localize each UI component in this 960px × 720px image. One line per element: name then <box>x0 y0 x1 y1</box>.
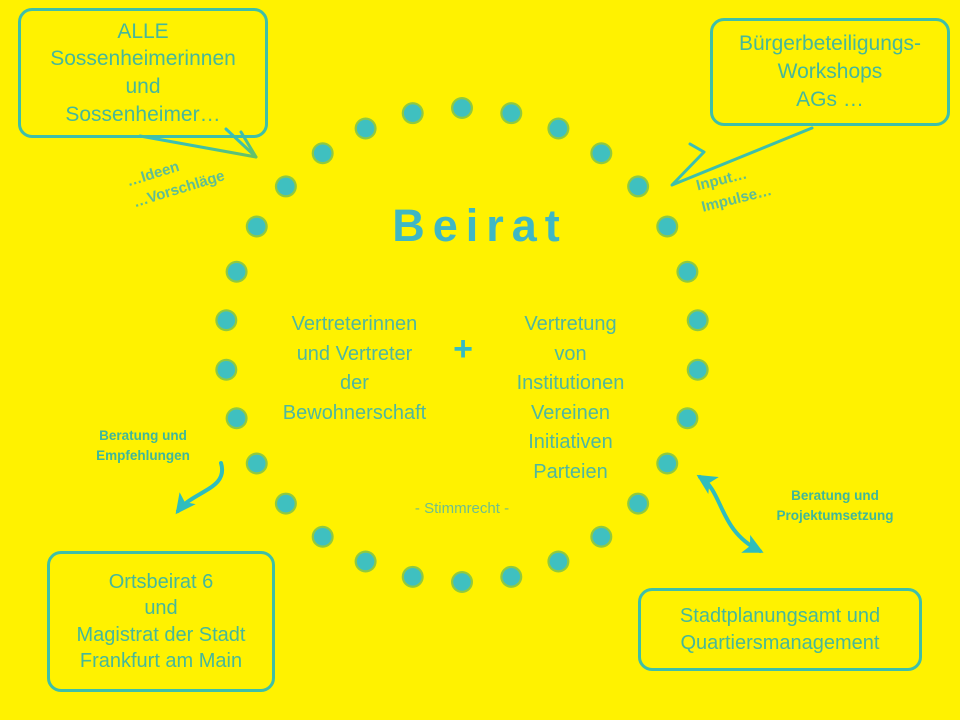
diagram-canvas: ALLE Sossenheimerinnen und Sossenheimer…… <box>0 0 960 720</box>
box-stadtplanungsamt-quartiersmanagement: Stadtplanungsamt und Quartiersmanagement <box>638 588 922 671</box>
bubble-alle-text: ALLE Sossenheimerinnen und Sossenheimer… <box>50 18 236 129</box>
column-vertretung-institutionen: Vertretung von Institutionen Vereinen In… <box>478 310 663 488</box>
box-stadtplanung-text: Stadtplanungsamt und Quartiersmanagement <box>680 603 880 656</box>
box-ortsbeirat-magistrat: Ortsbeirat 6 und Magistrat der Stadt Fra… <box>47 551 275 692</box>
arrow-beratung-empfehlungen <box>178 463 222 511</box>
bubble-buergerbeteiligungs-workshops: Bürgerbeteiligungs- Workshops AGs … <box>710 18 950 126</box>
box-ortsbeirat-text: Ortsbeirat 6 und Magistrat der Stadt Fra… <box>77 569 246 675</box>
column-vertreterinnen: Vertreterinnen und Vertreter der Bewohne… <box>262 310 447 428</box>
bubble-alle-sossenheimer: ALLE Sossenheimerinnen und Sossenheimer… <box>18 8 268 138</box>
bubble-workshops-text: Bürgerbeteiligungs- Workshops AGs … <box>739 30 921 113</box>
page-title: Beirat <box>0 200 960 252</box>
footnote-stimmrecht: - Stimmrecht - <box>362 500 562 517</box>
label-beratung-und-projektumsetzung: Beratung und Projektumsetzung <box>740 486 930 527</box>
label-beratung-und-empfehlungen: Beratung und Empfehlungen <box>63 426 223 467</box>
plus-icon: + <box>443 330 483 369</box>
